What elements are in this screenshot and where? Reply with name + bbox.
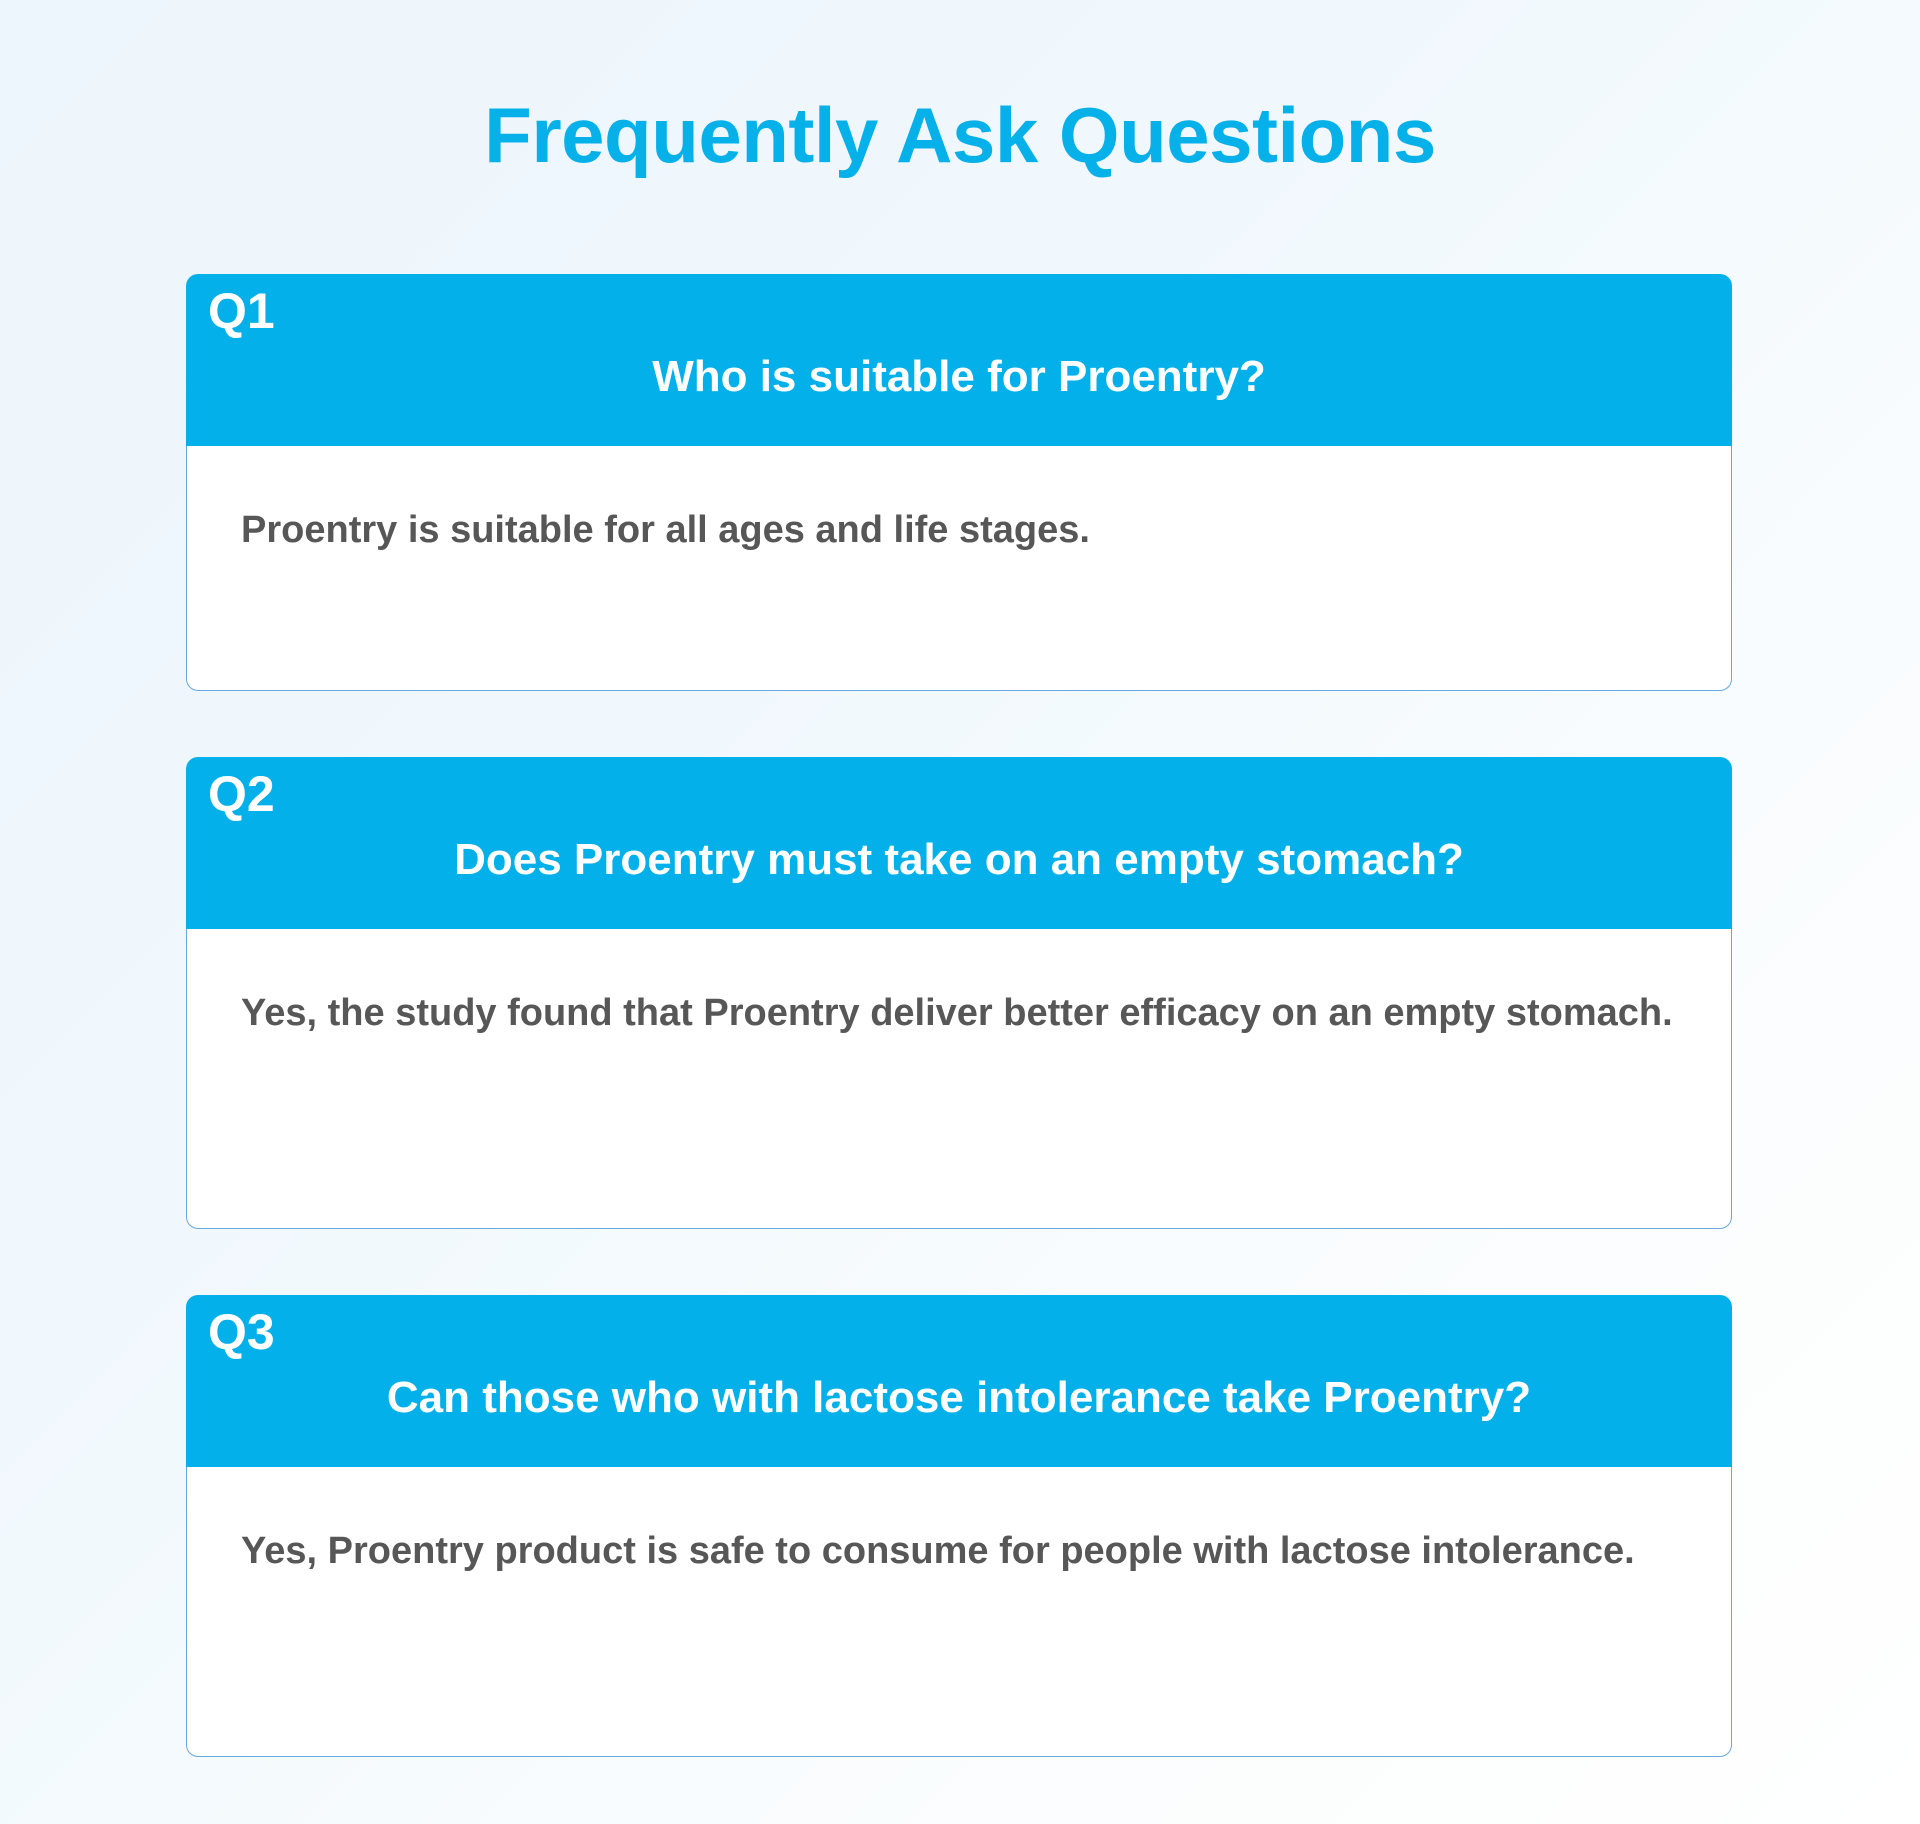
faq-item[interactable]: Q2 Does Proentry must take on an empty s… — [186, 757, 1732, 1229]
faq-question-text: Can those who with lactose intolerance t… — [186, 1373, 1732, 1424]
faq-question-number: Q1 — [208, 286, 275, 336]
faq-header[interactable]: Q1 Who is suitable for Proentry? — [186, 274, 1732, 446]
page-title: Frequently Ask Questions — [0, 96, 1920, 174]
faq-item[interactable]: Q3 Can those who with lactose intoleranc… — [186, 1295, 1732, 1757]
faq-question-number: Q2 — [208, 769, 275, 819]
faq-page: Frequently Ask Questions Q1 Who is suita… — [0, 0, 1920, 1824]
faq-question-number: Q3 — [208, 1307, 275, 1357]
faq-body: Yes, Proentry product is safe to consume… — [186, 1467, 1732, 1757]
faq-header[interactable]: Q2 Does Proentry must take on an empty s… — [186, 757, 1732, 929]
faq-body: Proentry is suitable for all ages and li… — [186, 446, 1732, 691]
faq-question-text: Who is suitable for Proentry? — [186, 352, 1732, 403]
faq-item[interactable]: Q1 Who is suitable for Proentry? Proentr… — [186, 274, 1732, 691]
faq-header[interactable]: Q3 Can those who with lactose intoleranc… — [186, 1295, 1732, 1467]
faq-list: Q1 Who is suitable for Proentry? Proentr… — [186, 274, 1732, 1757]
faq-answer-text: Proentry is suitable for all ages and li… — [187, 446, 1731, 562]
faq-answer-text: Yes, the study found that Proentry deliv… — [187, 929, 1731, 1045]
faq-answer-text: Yes, Proentry product is safe to consume… — [187, 1467, 1731, 1583]
faq-question-text: Does Proentry must take on an empty stom… — [186, 835, 1732, 886]
faq-body: Yes, the study found that Proentry deliv… — [186, 929, 1732, 1229]
